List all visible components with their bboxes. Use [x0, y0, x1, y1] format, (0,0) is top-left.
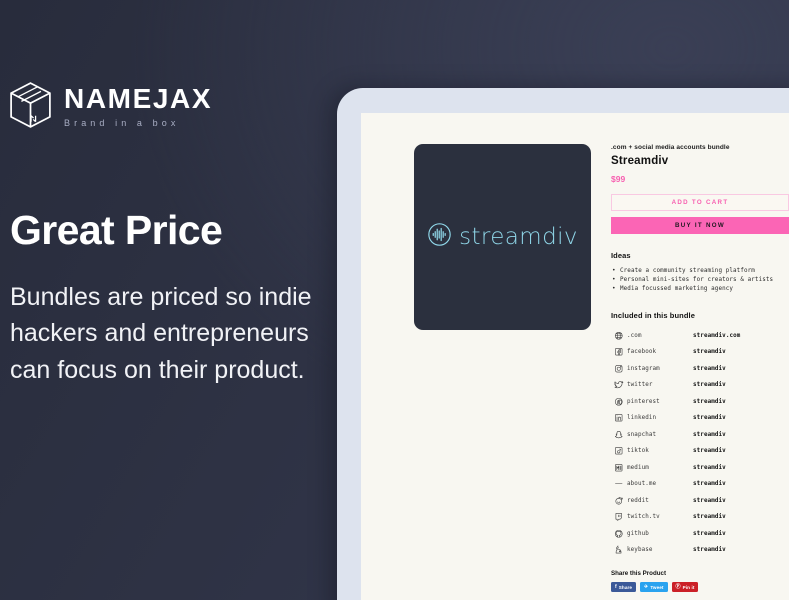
- product-subtitle: .com + social media accounts bundle: [611, 144, 789, 151]
- bundle-row-name: .com: [627, 333, 693, 339]
- bundle-row-value: streamdiv: [693, 415, 726, 421]
- instagram-icon: [611, 364, 627, 374]
- snapchat-icon: [611, 430, 627, 440]
- bundle-row: instagramstreamdiv: [611, 360, 789, 377]
- pinterest-icon: [611, 397, 627, 407]
- soundwave-circle-icon: [427, 222, 452, 252]
- marketing-body: Bundles are priced so indie hackers and …: [10, 279, 356, 388]
- bundle-row-value: streamdiv: [693, 498, 726, 504]
- bundle-row: linkedinstreamdiv: [611, 410, 789, 427]
- bundle-row-name: snapchat: [627, 432, 693, 438]
- streamdiv-logo: streamdiv: [427, 222, 578, 252]
- tablet-screen: streamdiv .com + social media accounts b…: [361, 113, 789, 600]
- globe-icon: [611, 331, 627, 341]
- add-to-cart-button[interactable]: ADD TO CART: [611, 194, 789, 211]
- bundle-row-name: linkedin: [627, 415, 693, 421]
- bundle-row-value: streamdiv: [693, 514, 726, 520]
- share-facebook-button[interactable]: fShare: [611, 582, 636, 592]
- box-icon: [8, 81, 53, 129]
- product-title: Streamdiv: [611, 155, 789, 167]
- brand-tagline: Brand in a box: [64, 119, 212, 128]
- bundle-row: .comstreamdiv.com: [611, 327, 789, 344]
- idea-item: Media focussed marketing agency: [611, 285, 789, 294]
- share-heading: Share this Product: [611, 570, 789, 577]
- bundle-row: redditstreamdiv: [611, 492, 789, 509]
- brand-lockup: NAMEJAX Brand in a box: [8, 74, 360, 136]
- facebook-icon: [611, 347, 627, 357]
- bundle-row-name: medium: [627, 465, 693, 471]
- bundle-row-value: streamdiv: [693, 547, 726, 553]
- bundle-row-name: twitter: [627, 382, 693, 388]
- product-info-column: .com + social media accounts bundle Stre…: [611, 144, 789, 592]
- bundle-row: facebookstreamdiv: [611, 344, 789, 361]
- ideas-heading: Ideas: [611, 251, 789, 260]
- facebook-icon: f: [615, 585, 617, 590]
- page-title: Great Price: [10, 210, 360, 251]
- bundle-row: twitch.tvstreamdiv: [611, 509, 789, 526]
- reddit-icon: [611, 496, 627, 506]
- bundle-row-name: facebook: [627, 349, 693, 355]
- twitter-icon: [611, 380, 627, 390]
- bundle-heading: Included in this bundle: [611, 311, 789, 320]
- twitter-icon: ✈: [644, 585, 648, 590]
- share-button-group: fShare✈TweetⓅPin it: [611, 582, 789, 592]
- bundle-row-name: tiktok: [627, 448, 693, 454]
- aboutme-icon: [611, 479, 627, 489]
- pinterest-icon: Ⓟ: [676, 585, 681, 590]
- bundle-row-name: about.me: [627, 481, 693, 487]
- bundle-row: mediumstreamdiv: [611, 459, 789, 476]
- bundle-row-value: streamdiv: [693, 465, 726, 471]
- streamdiv-wordmark: streamdiv: [459, 224, 578, 250]
- bundle-row-value: streamdiv: [693, 531, 726, 537]
- share-button-label: Tweet: [650, 585, 663, 590]
- share-section: Share this Product fShare✈TweetⓅPin it: [611, 570, 789, 592]
- bundle-row-value: streamdiv: [693, 382, 726, 388]
- bundle-row-name: pinterest: [627, 399, 693, 405]
- bundle-row-name: keybase: [627, 547, 693, 553]
- bundle-row: snapchatstreamdiv: [611, 426, 789, 443]
- bundle-row-name: twitch.tv: [627, 514, 693, 520]
- bundle-row: tiktokstreamdiv: [611, 443, 789, 460]
- brand-name: NAMEJAX: [64, 85, 212, 113]
- ideas-list: Create a community streaming platformPer…: [611, 267, 789, 294]
- bundle-row-value: streamdiv.com: [693, 333, 740, 339]
- bundle-row-value: streamdiv: [693, 399, 726, 405]
- share-button-label: Share: [619, 585, 632, 590]
- share-pinterest-button[interactable]: ⓅPin it: [672, 582, 699, 592]
- bundle-row-name: reddit: [627, 498, 693, 504]
- linkedin-icon: [611, 413, 627, 423]
- bundle-row-name: instagram: [627, 366, 693, 372]
- idea-item: Personal mini-sites for creators & artis…: [611, 276, 789, 285]
- bundle-list: .comstreamdiv.comfacebookstreamdivinstag…: [611, 327, 789, 558]
- bundle-row-name: github: [627, 531, 693, 537]
- medium-icon: [611, 463, 627, 473]
- github-icon: [611, 529, 627, 539]
- bundle-row: githubstreamdiv: [611, 525, 789, 542]
- bundle-row-value: streamdiv: [693, 432, 726, 438]
- product-price: $99: [611, 174, 789, 184]
- bundle-row: about.mestreamdiv: [611, 476, 789, 493]
- keybase-icon: [611, 545, 627, 555]
- product-image-card: streamdiv: [414, 144, 591, 330]
- buy-it-now-button[interactable]: BUY IT NOW: [611, 217, 789, 234]
- bundle-row: keybasestreamdiv: [611, 542, 789, 559]
- bundle-row-value: streamdiv: [693, 448, 726, 454]
- twitch-icon: [611, 512, 627, 522]
- bundle-row-value: streamdiv: [693, 349, 726, 355]
- tiktok-icon: [611, 446, 627, 456]
- bundle-row-value: streamdiv: [693, 481, 726, 487]
- bundle-row: pintereststreamdiv: [611, 393, 789, 410]
- share-button-label: Pin it: [683, 585, 695, 590]
- share-twitter-button[interactable]: ✈Tweet: [640, 582, 667, 592]
- bundle-row-value: streamdiv: [693, 366, 726, 372]
- bundle-row: twitterstreamdiv: [611, 377, 789, 394]
- marketing-panel: NAMEJAX Brand in a box Great Price Bundl…: [0, 0, 360, 600]
- idea-item: Create a community streaming platform: [611, 267, 789, 276]
